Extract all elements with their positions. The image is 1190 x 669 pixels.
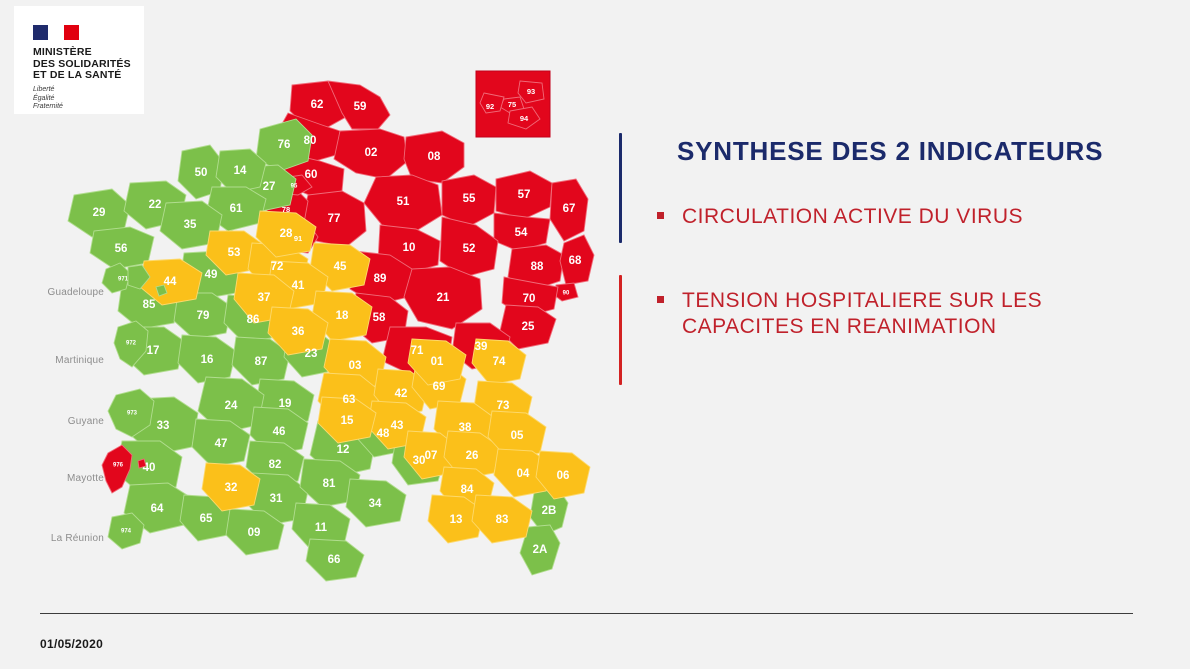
- label-71: 71: [411, 345, 424, 357]
- label-28: 28: [280, 228, 293, 240]
- label-44: 44: [164, 276, 177, 288]
- panel-title: SYNTHESE DES 2 INDICATEURS: [677, 136, 1167, 166]
- label-32: 32: [225, 482, 238, 494]
- overseas-label-guadeloupe: Guadeloupe: [12, 287, 104, 298]
- label-24: 24: [225, 400, 238, 412]
- label-54: 54: [515, 227, 528, 239]
- label-72: 72: [271, 261, 284, 273]
- label-37: 37: [258, 292, 271, 304]
- label-23: 23: [305, 348, 318, 360]
- label-17: 17: [147, 345, 160, 357]
- label-50: 50: [195, 167, 208, 179]
- label-06: 06: [557, 470, 570, 482]
- indicator-item-2: TENSION HOSPITALIERE SUR LES CAPACITES E…: [657, 288, 1167, 340]
- label-974: 974: [121, 529, 132, 535]
- label-13: 13: [450, 514, 463, 526]
- map-svg: 62 59 80 02 60 08 51 55 57 67 54 88 68 9…: [60, 55, 605, 585]
- label-81: 81: [323, 478, 336, 490]
- label-73: 73: [497, 400, 510, 412]
- label-10: 10: [403, 242, 416, 254]
- label-61: 61: [230, 203, 243, 215]
- label-90: 90: [563, 291, 570, 297]
- indicator-label-2: TENSION HOSPITALIERE SUR LES CAPACITES E…: [682, 288, 1167, 340]
- label-69: 69: [433, 381, 446, 393]
- label-79: 79: [197, 310, 210, 322]
- label-38: 38: [459, 422, 472, 434]
- label-89: 89: [374, 273, 387, 285]
- overseas-label-lareunion: La Réunion: [12, 533, 104, 544]
- label-51: 51: [397, 196, 410, 208]
- dept-976: [102, 445, 132, 493]
- footer-divider: [40, 613, 1133, 614]
- label-971: 971: [118, 277, 129, 283]
- label-33: 33: [157, 420, 170, 432]
- bullet-square-icon: [657, 296, 664, 303]
- label-972: 972: [126, 341, 137, 347]
- footer-date: 01/05/2020: [40, 637, 103, 651]
- label-43: 43: [391, 420, 404, 432]
- label-22: 22: [149, 199, 162, 211]
- label-52: 52: [463, 243, 476, 255]
- label-60: 60: [305, 169, 318, 181]
- label-26: 26: [466, 450, 479, 462]
- label-35: 35: [184, 219, 197, 231]
- label-30: 30: [413, 455, 426, 467]
- label-01: 01: [431, 356, 444, 368]
- accent-bar-title: [619, 133, 622, 243]
- label-82: 82: [269, 459, 282, 471]
- label-57: 57: [518, 189, 531, 201]
- indicator-label-1: CIRCULATION ACTIVE DU VIRUS: [682, 204, 1023, 230]
- label-05: 05: [511, 430, 524, 442]
- label-58: 58: [373, 312, 386, 324]
- label-65: 65: [200, 513, 213, 525]
- label-68: 68: [569, 255, 582, 267]
- label-77: 77: [328, 213, 341, 225]
- accent-bar-bullets: [619, 275, 622, 385]
- label-87: 87: [255, 356, 268, 368]
- label-70: 70: [523, 293, 536, 305]
- label-55: 55: [463, 193, 476, 205]
- france-choropleth-map: Guadeloupe Martinique Guyane Mayotte La …: [60, 55, 605, 585]
- label-46: 46: [273, 426, 286, 438]
- label-27: 27: [263, 181, 276, 193]
- bullet-square-icon: [657, 212, 664, 219]
- label-53: 53: [228, 247, 241, 259]
- label-29: 29: [93, 207, 106, 219]
- label-18: 18: [336, 310, 349, 322]
- inset-label-94: 94: [520, 114, 529, 123]
- label-84: 84: [461, 484, 474, 496]
- label-83: 83: [496, 514, 509, 526]
- label-59: 59: [354, 101, 367, 113]
- label-976: 976: [113, 463, 124, 469]
- label-91: 91: [294, 234, 302, 243]
- inset-label-93: 93: [527, 87, 535, 96]
- label-31: 31: [270, 493, 283, 505]
- label-02: 02: [365, 147, 378, 159]
- label-15: 15: [341, 415, 354, 427]
- label-04: 04: [517, 468, 530, 480]
- label-86: 86: [247, 314, 260, 326]
- label-39: 39: [475, 341, 488, 353]
- label-62: 62: [311, 99, 324, 111]
- inset-label-75: 75: [508, 100, 516, 109]
- summary-panel: SYNTHESE DES 2 INDICATEURS CIRCULATION A…: [605, 120, 1175, 410]
- label-19: 19: [279, 398, 292, 410]
- dept-976-islet: [138, 459, 146, 468]
- label-76: 76: [278, 139, 291, 151]
- label-74: 74: [493, 356, 506, 368]
- label-09: 09: [248, 527, 261, 539]
- french-flag-icon: [33, 25, 79, 40]
- overseas-label-mayotte: Mayotte: [12, 473, 104, 484]
- label-08: 08: [428, 151, 441, 163]
- label-03: 03: [349, 360, 362, 372]
- label-36: 36: [292, 326, 305, 338]
- label-80: 80: [304, 135, 317, 147]
- label-78: 78: [282, 205, 290, 214]
- label-41: 41: [292, 280, 305, 292]
- label-21: 21: [437, 292, 450, 304]
- label-47: 47: [215, 438, 228, 450]
- label-16: 16: [201, 354, 214, 366]
- label-66: 66: [328, 554, 341, 566]
- slide-canvas: MINISTÈRE DES SOLIDARITÉS ET DE LA SANTÉ…: [0, 0, 1190, 669]
- label-63: 63: [343, 394, 356, 406]
- overseas-label-guyane: Guyane: [12, 416, 104, 427]
- label-42: 42: [395, 388, 408, 400]
- label-56: 56: [115, 243, 128, 255]
- label-973: 973: [127, 411, 138, 417]
- inset-label-92: 92: [486, 102, 494, 111]
- label-85: 85: [143, 299, 156, 311]
- label-14: 14: [234, 165, 247, 177]
- label-45: 45: [334, 261, 347, 273]
- label-64: 64: [151, 503, 164, 515]
- label-2B: 2B: [542, 505, 557, 517]
- indicator-item-1: CIRCULATION ACTIVE DU VIRUS: [657, 204, 1167, 230]
- ile-de-france-inset: 75 92 93 94: [476, 71, 550, 137]
- label-49: 49: [205, 269, 218, 281]
- label-07: 07: [425, 450, 438, 462]
- label-2A: 2A: [533, 544, 548, 556]
- label-25: 25: [522, 321, 535, 333]
- label-11: 11: [315, 522, 328, 534]
- overseas-label-martinique: Martinique: [12, 355, 104, 366]
- label-34: 34: [369, 498, 382, 510]
- label-95: 95: [291, 184, 298, 190]
- label-12: 12: [337, 444, 350, 456]
- label-48: 48: [377, 428, 390, 440]
- label-88: 88: [531, 261, 544, 273]
- label-67: 67: [563, 203, 576, 215]
